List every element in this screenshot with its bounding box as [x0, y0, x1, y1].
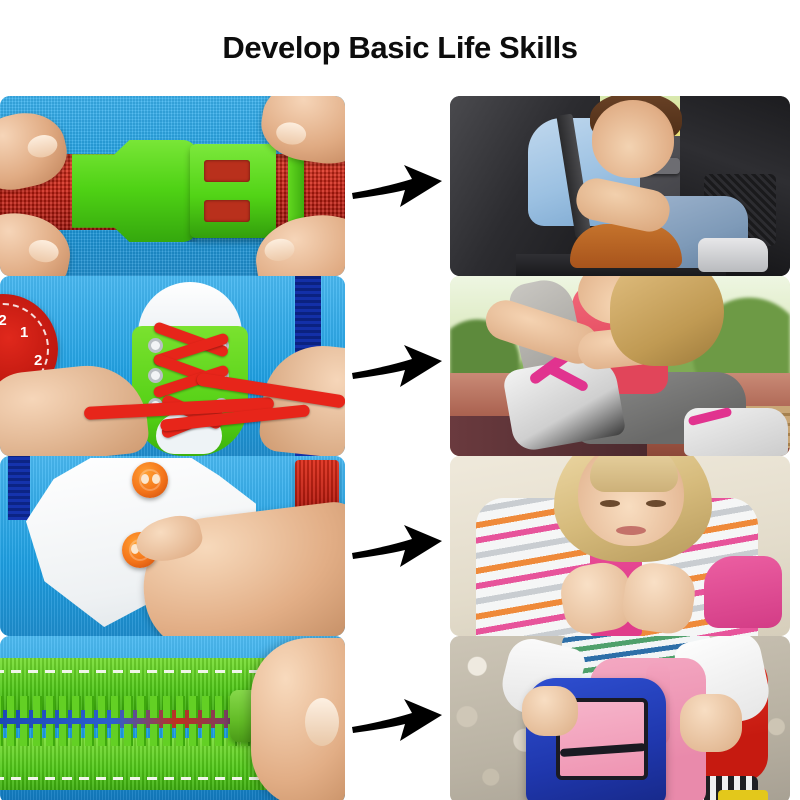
table-row: [0, 96, 800, 276]
girl-bangs: [590, 456, 678, 492]
eyelet: [148, 338, 163, 353]
table-row: 12 1 2: [0, 276, 800, 456]
yellow-accent: [718, 790, 768, 800]
row-arrow: [345, 636, 450, 800]
seat-crotch-pad: [570, 224, 682, 268]
girl-eye: [646, 500, 666, 507]
child-hand-right: [680, 694, 742, 752]
girl-eye: [600, 500, 620, 507]
child-head: [592, 100, 674, 178]
child-car-seat-buckle-photo: [450, 96, 790, 276]
table-row: [0, 456, 800, 636]
right-arrow-icon: [350, 517, 446, 575]
row-arrow: [345, 456, 450, 636]
fingernail: [305, 698, 339, 746]
right-arrow-icon: [350, 337, 446, 395]
right-arrow-icon: [350, 691, 446, 749]
row-arrow: [345, 96, 450, 276]
girl-mouth: [616, 526, 646, 535]
row-arrow: [345, 276, 450, 456]
button-board-photo: [0, 456, 345, 636]
girl-tying-shoelaces-photo: [450, 276, 790, 456]
product-feature-graphic: Develop Basic Life Skills: [0, 0, 800, 800]
right-arrow-icon: [350, 157, 446, 215]
girl-shoe-right: [684, 408, 788, 456]
clock-number: 12: [0, 312, 7, 329]
pink-sleeve: [704, 556, 782, 628]
shoe-lacing-board-photo: 12 1 2: [0, 276, 345, 456]
zipper-board-photo: [0, 636, 345, 800]
eyelet: [148, 368, 163, 383]
child-shoe: [698, 238, 768, 272]
skills-comparison-grid: 12 1 2: [0, 96, 800, 800]
green-buckle-tongue: [190, 144, 276, 238]
clock-number: 2: [34, 352, 42, 369]
girl-buttoning-shirt-photo: [450, 456, 790, 636]
navy-strap: [8, 456, 30, 520]
orange-button: [132, 462, 168, 498]
table-row: [0, 636, 800, 800]
child-backpack-zip-photo: [450, 636, 790, 800]
child-hand-left: [522, 686, 578, 736]
buckle-board-photo: [0, 96, 345, 276]
page-title: Develop Basic Life Skills: [0, 30, 800, 66]
green-buckle-body: [72, 140, 197, 242]
clock-number: 1: [20, 324, 28, 341]
